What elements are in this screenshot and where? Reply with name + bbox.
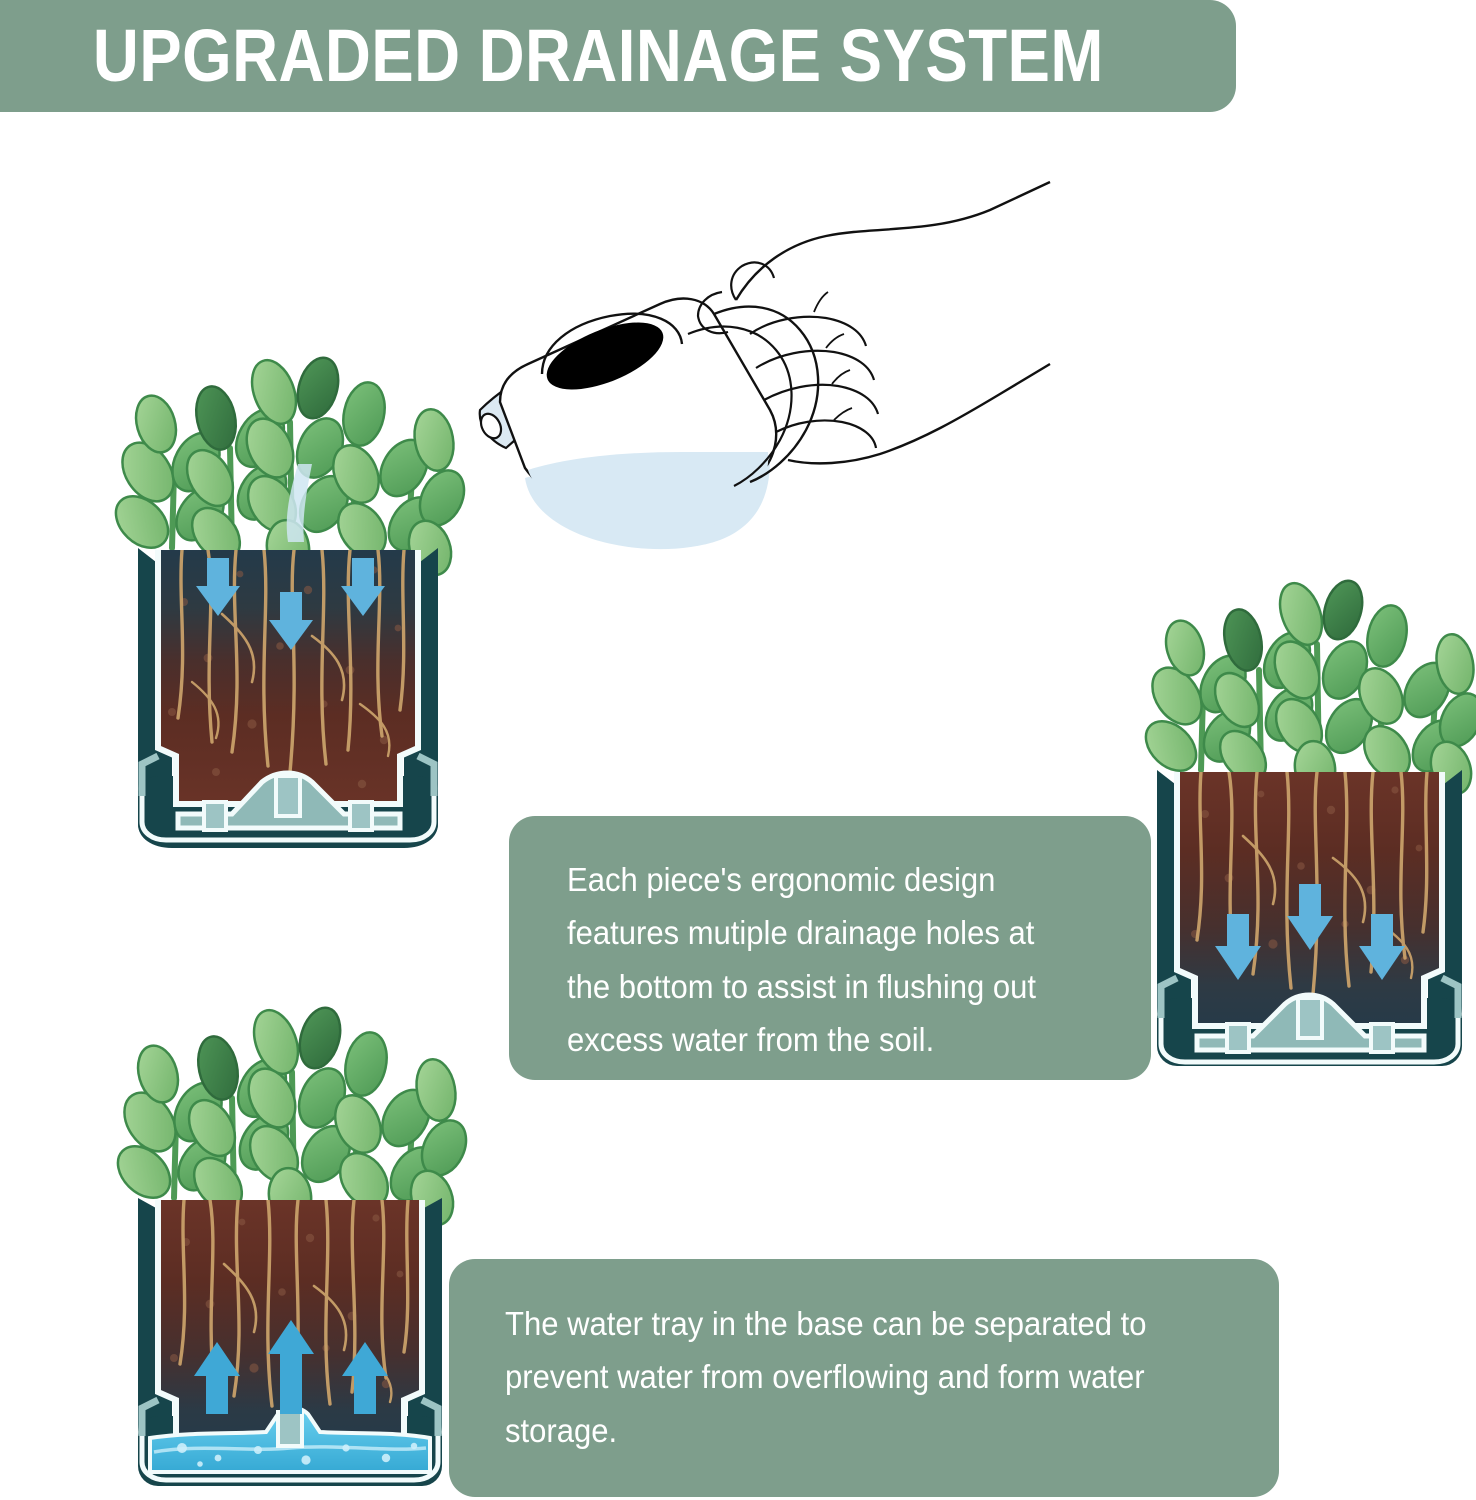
hand-outline-top: [736, 182, 1050, 300]
drainage-hole-center: [276, 776, 300, 816]
header-banner: UPGRADED DRAINAGE SYSTEM: [0, 0, 1236, 112]
planter-right: [1143, 578, 1476, 1090]
drainage-hole-right: [1371, 1024, 1393, 1052]
callout-water-tray: The water tray in the base can be separa…: [449, 1259, 1279, 1497]
drainage-hole-center: [278, 1412, 302, 1446]
drainage-hole-right: [350, 802, 372, 830]
page-title: UPGRADED DRAINAGE SYSTEM: [0, 19, 1104, 93]
knuckle-4: [834, 408, 852, 420]
planter-bottom-left: [110, 1000, 470, 1500]
callout-drainage-text: Each piece's ergonomic design features m…: [567, 853, 1084, 1067]
knuckle-2: [826, 334, 844, 348]
watering-can-illustration: [470, 148, 1050, 568]
drainage-hole-center: [1298, 998, 1322, 1038]
finger-3: [764, 385, 878, 414]
planter-top-left: [112, 352, 464, 868]
plant-foliage: [108, 1003, 475, 1231]
thumb: [731, 262, 774, 300]
knuckle-3: [832, 370, 850, 384]
drainage-hole-left: [204, 802, 226, 830]
finger-4: [776, 420, 876, 448]
callout-tray-text: The water tray in the base can be separa…: [505, 1297, 1201, 1457]
hand-outline-bottom: [788, 364, 1050, 463]
drainage-hole-left: [1227, 1024, 1249, 1052]
callout-drainage-holes: Each piece's ergonomic design features m…: [509, 816, 1151, 1080]
plant-foliage: [1136, 576, 1476, 800]
plant-foliage: [106, 353, 473, 581]
knuckle-1: [814, 292, 828, 312]
